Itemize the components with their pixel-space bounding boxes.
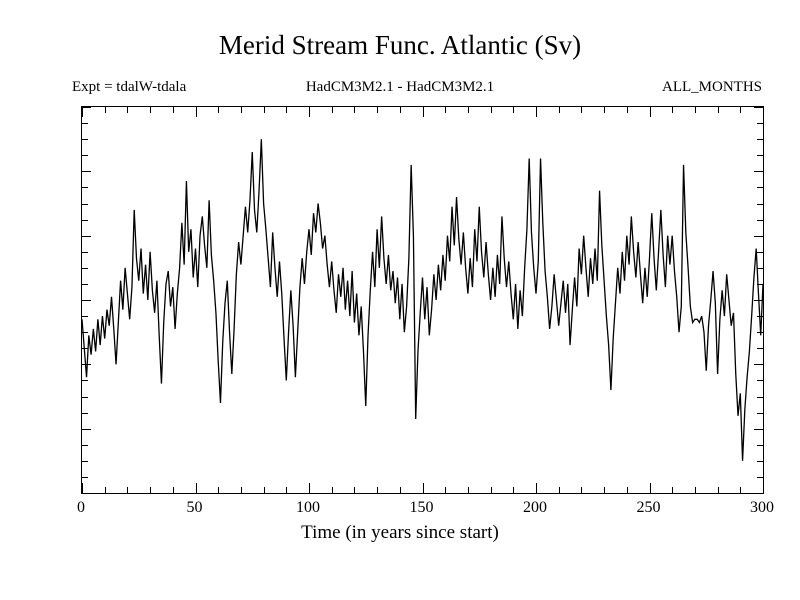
x-tick-bottom [650, 483, 651, 493]
y-tick-left [82, 364, 91, 365]
x-tick-top [718, 107, 719, 113]
x-tick-top [127, 107, 128, 113]
x-tick-bottom [286, 487, 287, 493]
chart-canvas: Merid Stream Func. Atlantic (Sv) Expt = … [0, 0, 800, 600]
y-tick-left [82, 300, 91, 301]
y-tick-left [82, 171, 91, 172]
x-tick-bottom [400, 487, 401, 493]
x-tick-top [332, 107, 333, 113]
x-tick-bottom [604, 487, 605, 493]
y-tick-right [754, 171, 763, 172]
y-tick-left [82, 187, 88, 188]
y-tick-right [754, 300, 763, 301]
x-tick-bottom [241, 487, 242, 493]
y-tick-right [757, 316, 763, 317]
y-tick-left [82, 332, 88, 333]
x-tick-top [400, 107, 401, 113]
y-tick-left [82, 204, 88, 205]
x-tick-top [763, 107, 764, 117]
x-tick-label: 250 [637, 500, 661, 516]
x-tick-label: 200 [523, 500, 547, 516]
y-tick-right [754, 236, 763, 237]
y-tick-left [82, 316, 88, 317]
y-tick-right [757, 380, 763, 381]
y-tick-left [82, 252, 88, 253]
y-tick-left [82, 139, 88, 140]
x-axis-title: Time (in years since start) [0, 522, 800, 544]
x-tick-bottom [491, 487, 492, 493]
y-tick-left [82, 477, 88, 478]
x-tick-top [740, 107, 741, 113]
y-tick-left [82, 155, 88, 156]
y-tick-right [754, 364, 763, 365]
y-tick-right [754, 493, 763, 494]
time-series-line [82, 107, 763, 493]
x-tick-top [82, 107, 83, 117]
y-tick-right [757, 477, 763, 478]
y-tick-left [82, 445, 88, 446]
x-tick-bottom [105, 487, 106, 493]
y-tick-right [757, 284, 763, 285]
x-tick-top [105, 107, 106, 113]
y-tick-right [757, 413, 763, 414]
x-tick-bottom [468, 487, 469, 493]
x-tick-bottom [218, 487, 219, 493]
x-tick-top [468, 107, 469, 113]
x-tick-top [286, 107, 287, 113]
x-tick-top [264, 107, 265, 113]
x-tick-top [536, 107, 537, 117]
x-tick-label: 0 [77, 500, 85, 516]
x-tick-bottom [695, 487, 696, 493]
x-tick-top [627, 107, 628, 113]
y-tick-right [757, 139, 763, 140]
x-tick-bottom [264, 487, 265, 493]
x-tick-bottom [718, 487, 719, 493]
x-tick-bottom [423, 483, 424, 493]
y-tick-right [757, 461, 763, 462]
x-tick-top [377, 107, 378, 113]
x-tick-label: 50 [187, 500, 203, 516]
x-tick-bottom [536, 483, 537, 493]
x-tick-top [604, 107, 605, 113]
x-tick-top [581, 107, 582, 113]
months-label: ALL_MONTHS [662, 78, 762, 96]
y-tick-left [82, 236, 91, 237]
x-tick-top [218, 107, 219, 113]
x-tick-bottom [82, 483, 83, 493]
x-tick-top [650, 107, 651, 117]
y-tick-left [82, 493, 91, 494]
x-tick-top [196, 107, 197, 117]
y-tick-right [757, 220, 763, 221]
x-tick-bottom [127, 487, 128, 493]
x-tick-bottom [173, 487, 174, 493]
x-tick-label: 150 [410, 500, 434, 516]
x-tick-top [559, 107, 560, 113]
y-tick-right [757, 204, 763, 205]
y-tick-right [757, 187, 763, 188]
y-tick-left [82, 348, 88, 349]
y-tick-left [82, 220, 88, 221]
y-tick-left [82, 413, 88, 414]
y-tick-left [82, 461, 88, 462]
y-tick-right [757, 397, 763, 398]
x-tick-bottom [445, 487, 446, 493]
y-tick-right [757, 445, 763, 446]
x-tick-top [309, 107, 310, 117]
x-tick-top [150, 107, 151, 113]
y-tick-right [757, 155, 763, 156]
x-tick-bottom [332, 487, 333, 493]
x-tick-top [241, 107, 242, 113]
y-tick-right [757, 348, 763, 349]
y-tick-left [82, 284, 88, 285]
y-tick-left [82, 380, 88, 381]
y-tick-right [757, 252, 763, 253]
chart-title: Merid Stream Func. Atlantic (Sv) [0, 30, 800, 60]
y-tick-right [757, 123, 763, 124]
x-tick-top [695, 107, 696, 113]
x-tick-top [491, 107, 492, 113]
x-tick-bottom [513, 487, 514, 493]
y-tick-left [82, 268, 88, 269]
y-tick-right [754, 429, 763, 430]
y-tick-left [82, 397, 88, 398]
x-tick-bottom [354, 487, 355, 493]
y-tick-left [82, 429, 91, 430]
x-tick-top [445, 107, 446, 113]
plot-area [81, 106, 764, 494]
x-tick-bottom [581, 487, 582, 493]
x-tick-bottom [309, 483, 310, 493]
y-tick-right [757, 268, 763, 269]
y-tick-left [82, 107, 91, 108]
x-tick-bottom [740, 487, 741, 493]
x-tick-bottom [627, 487, 628, 493]
x-tick-bottom [672, 487, 673, 493]
x-tick-label: 100 [296, 500, 320, 516]
x-tick-top [423, 107, 424, 117]
y-tick-right [754, 107, 763, 108]
x-tick-top [173, 107, 174, 113]
x-tick-bottom [377, 487, 378, 493]
x-tick-bottom [559, 487, 560, 493]
x-tick-top [513, 107, 514, 113]
x-tick-bottom [196, 483, 197, 493]
x-tick-label: 300 [750, 500, 774, 516]
y-tick-left [82, 123, 88, 124]
x-tick-bottom [763, 483, 764, 493]
x-tick-top [354, 107, 355, 113]
x-tick-top [672, 107, 673, 113]
x-tick-bottom [150, 487, 151, 493]
y-tick-right [757, 332, 763, 333]
